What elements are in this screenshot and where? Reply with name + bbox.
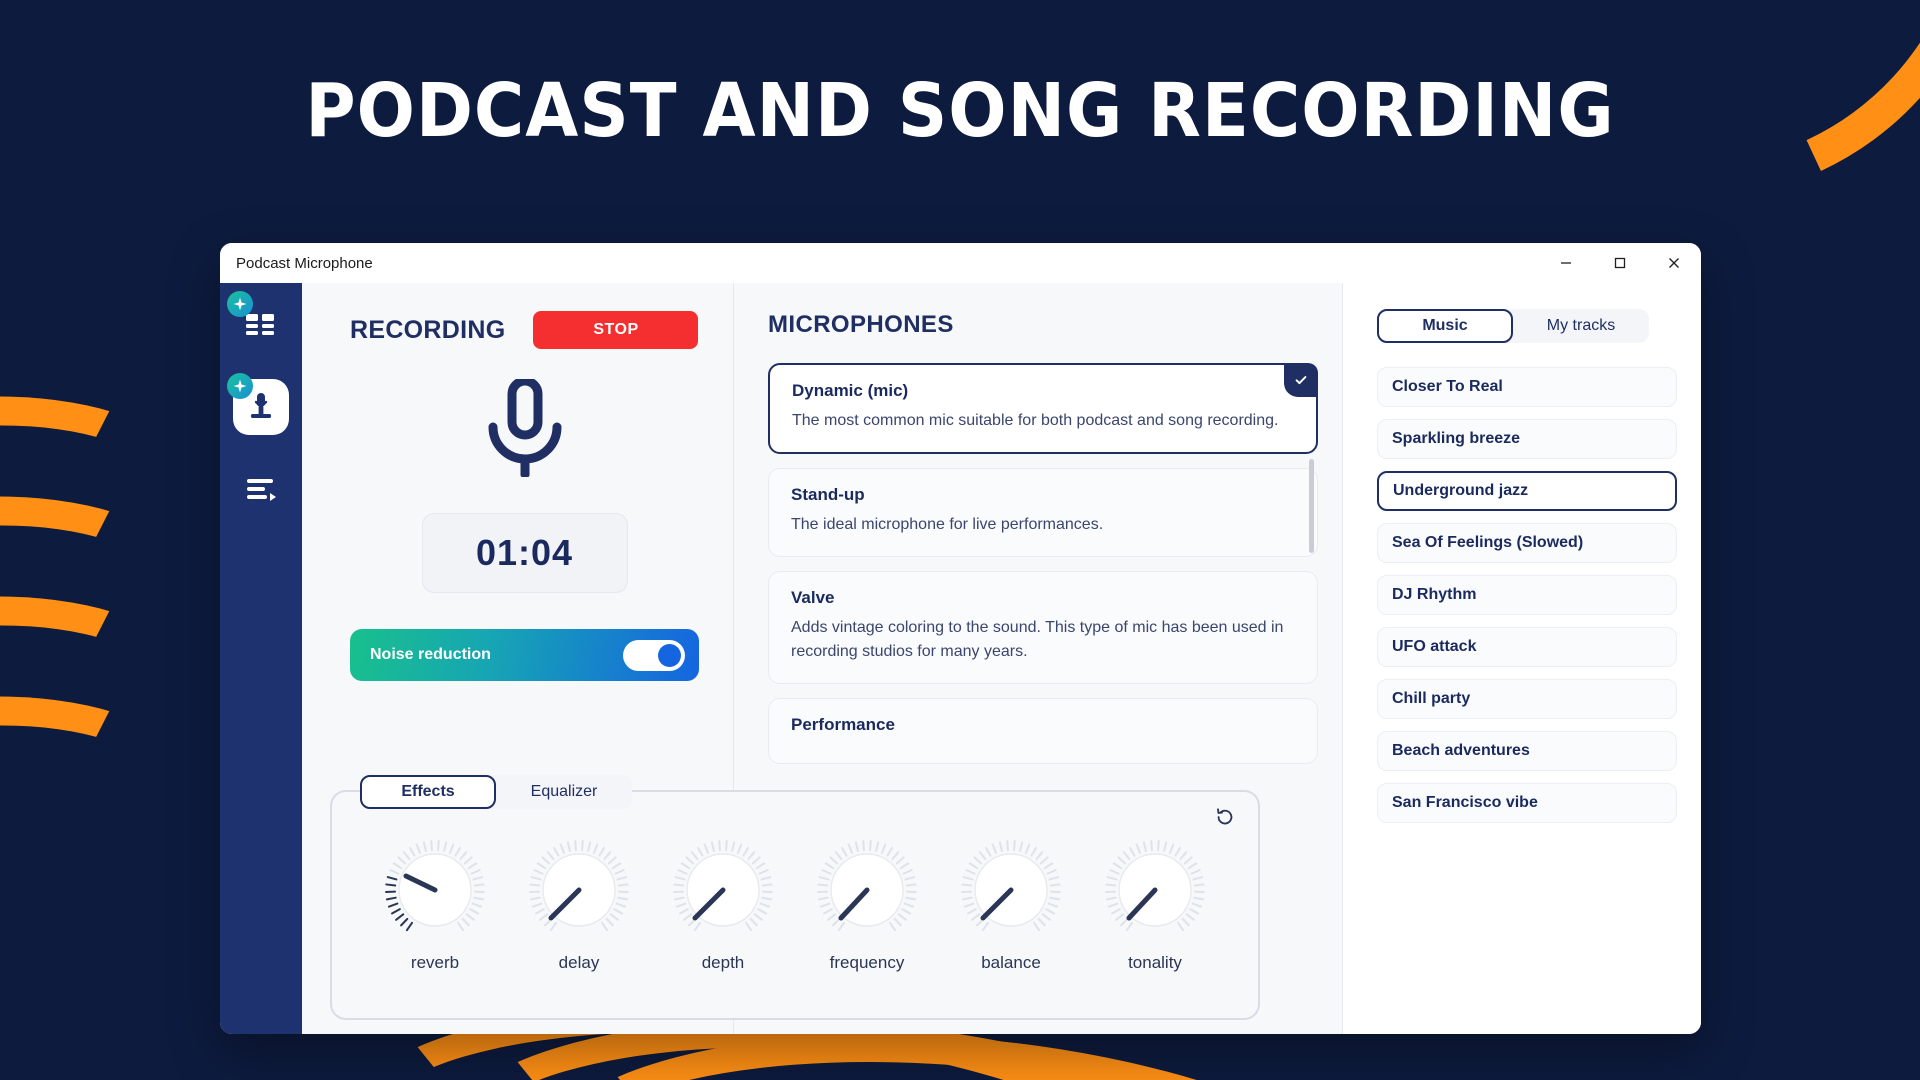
mic-card-performance[interactable]: Performance bbox=[768, 698, 1318, 764]
tab-equalizer[interactable]: Equalizer bbox=[496, 775, 632, 809]
knob-dial-icon bbox=[527, 838, 631, 942]
knob-label: tonality bbox=[1103, 953, 1207, 973]
microphones-scrollbar[interactable] bbox=[1309, 459, 1314, 553]
knob-delay[interactable]: delay bbox=[527, 838, 631, 973]
mic-card-standup[interactable]: Stand-up The ideal microphone for live p… bbox=[768, 468, 1318, 557]
knob-dial-icon bbox=[1103, 838, 1207, 942]
effects-knobs: reverb delay depth bbox=[332, 838, 1258, 973]
sidebar-item-dashboard[interactable] bbox=[233, 297, 289, 353]
knob-dial-icon bbox=[383, 838, 487, 942]
knob-reverb[interactable]: reverb bbox=[383, 838, 487, 973]
knob-label: frequency bbox=[815, 953, 919, 973]
knob-label: depth bbox=[671, 953, 775, 973]
maximize-icon[interactable] bbox=[1593, 243, 1647, 283]
minimize-icon[interactable] bbox=[1539, 243, 1593, 283]
mic-name: Valve bbox=[791, 588, 1295, 608]
knob-balance[interactable]: balance bbox=[959, 838, 1063, 973]
microphone-download-icon bbox=[246, 391, 276, 423]
noise-reduction-label: Noise reduction bbox=[370, 646, 491, 664]
knob-frequency[interactable]: frequency bbox=[815, 838, 919, 973]
track-item[interactable]: Sea Of Feelings (Slowed) bbox=[1377, 523, 1677, 563]
effects-panel: Effects Equalizer reverb bbox=[330, 790, 1260, 1020]
sparkle-icon bbox=[227, 291, 253, 317]
microphones-title: MICROPHONES bbox=[768, 311, 1318, 339]
track-item[interactable]: Beach adventures bbox=[1377, 731, 1677, 771]
sidebar-item-record[interactable] bbox=[233, 379, 289, 435]
microphone-illustration bbox=[350, 379, 699, 483]
mic-name: Performance bbox=[791, 715, 1295, 735]
sparkle-icon bbox=[227, 373, 253, 399]
mic-description: The most common mic suitable for both po… bbox=[792, 409, 1294, 432]
track-item-selected[interactable]: Underground jazz bbox=[1377, 471, 1677, 511]
recording-timer: 01:04 bbox=[422, 513, 628, 593]
toggle-knob bbox=[658, 644, 681, 667]
window-controls bbox=[1539, 243, 1701, 283]
tab-my-tracks[interactable]: My tracks bbox=[1513, 309, 1649, 343]
track-item[interactable]: Chill party bbox=[1377, 679, 1677, 719]
microphones-list: Dynamic (mic) The most common mic suitab… bbox=[768, 363, 1318, 764]
track-item[interactable]: Closer To Real bbox=[1377, 367, 1677, 407]
track-item[interactable]: Sparkling breeze bbox=[1377, 419, 1677, 459]
app-window: Podcast Microphone bbox=[220, 243, 1701, 1034]
mic-card-valve[interactable]: Valve Adds vintage coloring to the sound… bbox=[768, 571, 1318, 683]
effects-tabs: Effects Equalizer bbox=[360, 775, 632, 809]
knob-dial-icon bbox=[959, 838, 1063, 942]
window-title: Podcast Microphone bbox=[236, 255, 373, 272]
tab-effects[interactable]: Effects bbox=[360, 775, 496, 809]
knob-dial-icon bbox=[671, 838, 775, 942]
knob-tonality[interactable]: tonality bbox=[1103, 838, 1207, 973]
mic-card-dynamic[interactable]: Dynamic (mic) The most common mic suitab… bbox=[768, 363, 1318, 454]
recording-title: RECORDING bbox=[350, 316, 505, 345]
tracks-panel: Music My tracks Closer To Real Sparkling… bbox=[1343, 283, 1701, 1034]
noise-reduction-toggle[interactable] bbox=[623, 640, 685, 671]
knob-label: delay bbox=[527, 953, 631, 973]
page-headline: PODCAST AND SONG RECORDING bbox=[0, 68, 1920, 154]
check-icon bbox=[1284, 363, 1318, 397]
tracks-tabs: Music My tracks bbox=[1377, 309, 1649, 343]
noise-reduction-bar[interactable]: Noise reduction bbox=[350, 629, 699, 681]
mic-name: Stand-up bbox=[791, 485, 1295, 505]
playlist-play-icon bbox=[246, 476, 276, 502]
app-body: RECORDING STOP 01:04 Noise reduction M bbox=[220, 283, 1701, 1034]
mic-name: Dynamic (mic) bbox=[792, 381, 1294, 401]
tab-music[interactable]: Music bbox=[1377, 309, 1513, 343]
dashboard-grid-icon bbox=[246, 312, 276, 338]
sidebar-item-playlist[interactable] bbox=[233, 461, 289, 517]
track-item[interactable]: DJ Rhythm bbox=[1377, 575, 1677, 615]
track-item[interactable]: San Francisco vibe bbox=[1377, 783, 1677, 823]
knob-label: balance bbox=[959, 953, 1063, 973]
window-titlebar: Podcast Microphone bbox=[220, 243, 1701, 283]
mic-description: Adds vintage coloring to the sound. This… bbox=[791, 616, 1295, 662]
track-item[interactable]: UFO attack bbox=[1377, 627, 1677, 667]
knob-label: reverb bbox=[383, 953, 487, 973]
stop-button[interactable]: STOP bbox=[533, 311, 698, 349]
knob-depth[interactable]: depth bbox=[671, 838, 775, 973]
mic-description: The ideal microphone for live performanc… bbox=[791, 513, 1295, 536]
left-sidebar bbox=[220, 283, 302, 1034]
reset-rotate-icon[interactable] bbox=[1212, 804, 1238, 830]
close-icon[interactable] bbox=[1647, 243, 1701, 283]
knob-dial-icon bbox=[815, 838, 919, 942]
recording-header: RECORDING STOP bbox=[350, 311, 699, 349]
track-list: Closer To Real Sparkling breeze Undergro… bbox=[1377, 367, 1677, 823]
microphone-icon bbox=[481, 379, 569, 483]
